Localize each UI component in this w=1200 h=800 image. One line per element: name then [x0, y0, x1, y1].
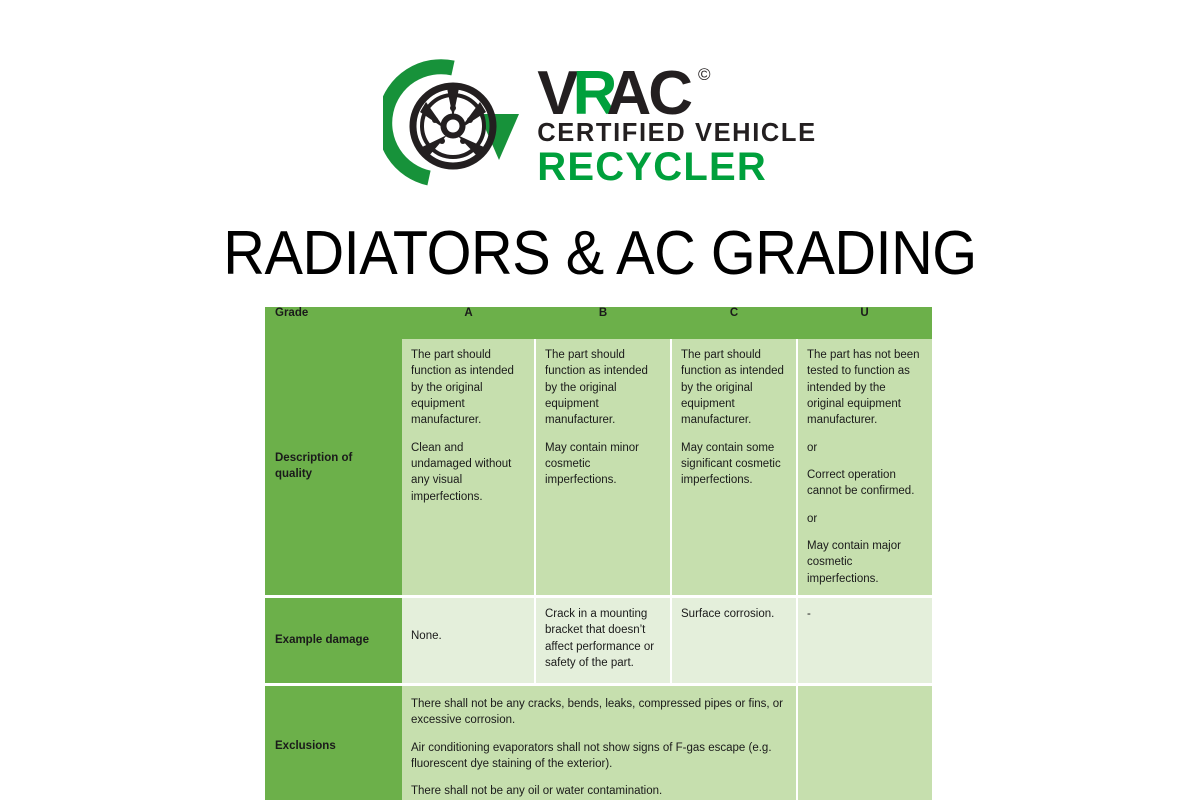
table-row-example-damage: Example damage None. Crack in a mounting… — [265, 596, 932, 684]
cell-description-c: The part should function as intended by … — [671, 339, 797, 596]
table-row-exclusions: Exclusions There shall not be any cracks… — [265, 684, 932, 800]
cell-description-b: The part should function as intended by … — [535, 339, 671, 596]
header-grade-a: A — [402, 307, 535, 339]
cell-exclusions-u — [797, 684, 932, 800]
table-row-description: Description of quality The part should f… — [265, 339, 932, 596]
cell-example-u: - — [797, 596, 932, 684]
vrac-logo: V R A C © CERTIFIED VEHICLE RECYCLER — [0, 56, 1200, 196]
header-grade-c: C — [671, 307, 797, 339]
row-label-exclusions: Exclusions — [265, 684, 402, 800]
copyright-icon: © — [698, 67, 710, 83]
page-title: RADIATORS & AC GRADING — [42, 218, 1158, 289]
logo-vrac-line: V R A C © — [537, 65, 816, 122]
header-grade-b: B — [535, 307, 671, 339]
cell-example-a: None. — [402, 596, 535, 684]
logo-inner: V R A C © CERTIFIED VEHICLE RECYCLER — [383, 56, 816, 196]
cell-example-b: Crack in a mounting bracket that doesn’t… — [535, 596, 671, 684]
header-grade-u: U — [797, 307, 932, 339]
table-header-row: Grade A B C U — [265, 307, 932, 339]
cell-exclusions-merged: There shall not be any cracks, bends, le… — [402, 684, 797, 800]
cell-description-a: The part should function as intended by … — [402, 339, 535, 596]
logo-letter-a: A — [606, 65, 650, 122]
logo-letter-c: C — [648, 65, 692, 122]
grading-table: Grade A B C U Description of quality The… — [265, 307, 932, 800]
logo-wordmark: V R A C © CERTIFIED VEHICLE RECYCLER — [537, 65, 816, 188]
page-root: V R A C © CERTIFIED VEHICLE RECYCLER RAD… — [0, 0, 1200, 800]
header-grade: Grade — [265, 307, 402, 339]
recycling-wheel-icon — [383, 56, 523, 196]
logo-tagline: CERTIFIED VEHICLE — [537, 120, 816, 147]
logo-recycler-line: RECYCLER — [537, 147, 816, 187]
cell-description-u: The part has not been tested to function… — [797, 339, 932, 596]
row-label-example-damage: Example damage — [265, 596, 402, 684]
logo-letter-v: V — [537, 65, 577, 122]
cell-example-c: Surface corrosion. — [671, 596, 797, 684]
row-label-description: Description of quality — [265, 339, 402, 596]
